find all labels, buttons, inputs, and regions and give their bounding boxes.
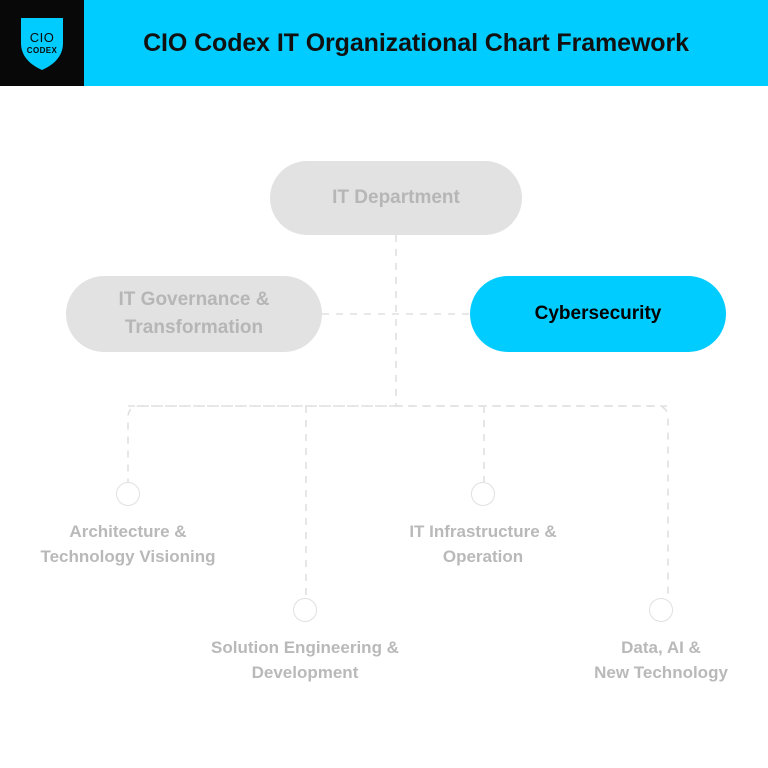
org-node-cybersecurity[interactable]: Cybersecurity [470, 276, 726, 352]
org-node-it-governance-transformation[interactable]: IT Governance & Transformation [66, 276, 322, 352]
org-node-label: Solution Engineering & Development [211, 636, 399, 685]
cio-codex-shield-icon: CIO CODEX [17, 13, 67, 73]
org-node-it-department[interactable]: IT Department [270, 161, 522, 235]
brand-logo-block: CIO CODEX [0, 0, 84, 86]
node-dot-icon [471, 482, 495, 506]
org-node-label: Architecture & Technology Visioning [40, 520, 215, 569]
page-title: CIO Codex IT Organizational Chart Framew… [84, 0, 768, 86]
org-node-label: IT Infrastructure & Operation [409, 520, 556, 569]
org-node-architecture-technology-visioning[interactable]: Architecture & Technology Visioning [0, 482, 258, 569]
org-node-data-ai-new-technology[interactable]: Data, AI & New Technology [531, 598, 768, 685]
org-node-label: Data, AI & New Technology [594, 636, 728, 685]
edge-to-arch [128, 406, 396, 482]
org-node-it-infrastructure-operation[interactable]: IT Infrastructure & Operation [353, 482, 613, 569]
org-chart: IT Department IT Governance & Transforma… [0, 86, 768, 768]
app-header: CIO CODEX CIO Codex IT Organizational Ch… [0, 0, 768, 86]
org-node-solution-engineering-development[interactable]: Solution Engineering & Development [175, 598, 435, 685]
node-dot-icon [293, 598, 317, 622]
node-dot-icon [649, 598, 673, 622]
node-dot-icon [116, 482, 140, 506]
